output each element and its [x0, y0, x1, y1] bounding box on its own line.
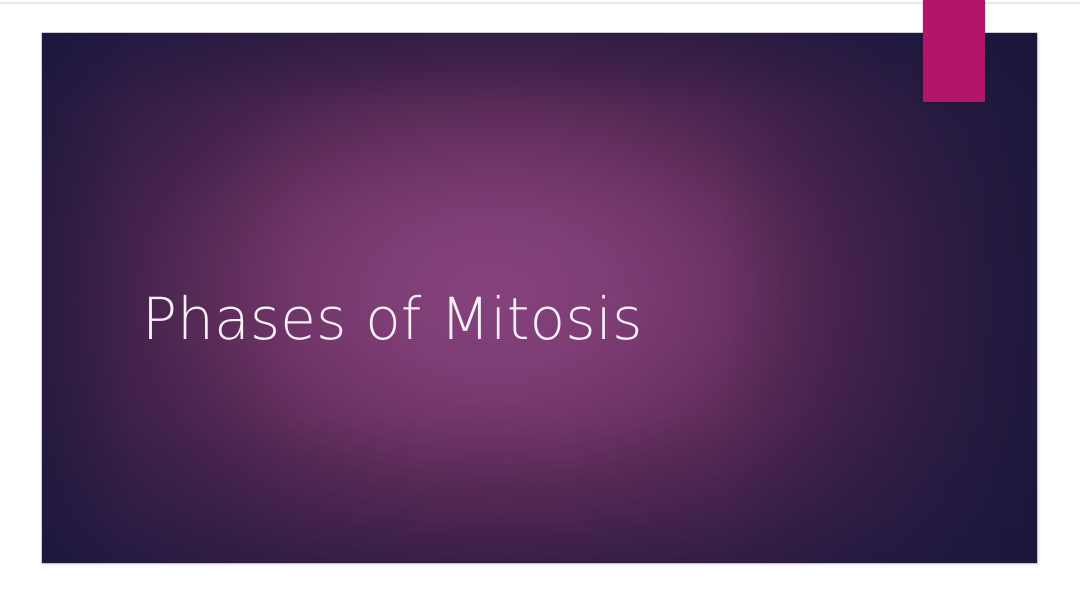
slide-viewer: Phases of Mitosis [0, 0, 1080, 607]
magenta-accent-bar [923, 0, 985, 102]
presentation-slide[interactable]: Phases of Mitosis [42, 33, 1037, 563]
slide-title: Phases of Mitosis [142, 288, 902, 351]
top-divider-rule [0, 2, 1080, 4]
